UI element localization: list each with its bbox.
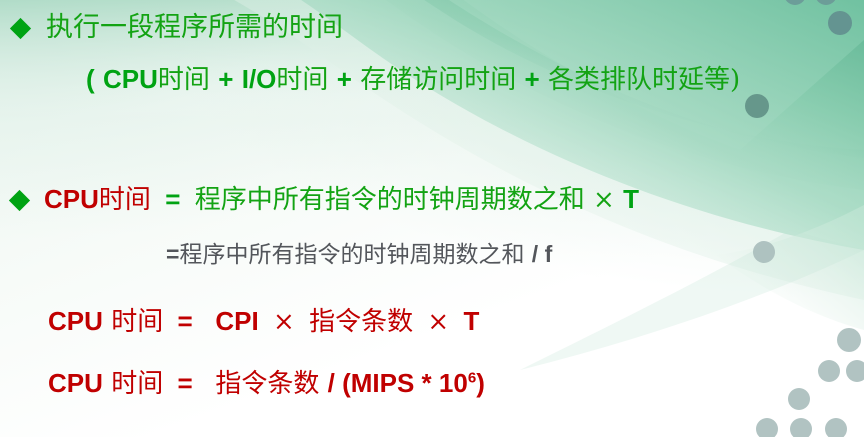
line5-time-label: 时间: [111, 307, 163, 337]
line3-equals: =: [165, 184, 180, 214]
line2-io-label: I/O: [242, 64, 277, 94]
line4-divide-f: / f: [532, 241, 552, 267]
diamond-bullet-icon: [10, 18, 31, 39]
bullet-line-2: (CPU时间+I/O时间+存储访问时间+各类排队时延等): [86, 66, 740, 93]
line6-time-label: 时间: [111, 369, 163, 399]
line6-cpu-label: CPU: [48, 368, 103, 398]
line6-instruction-count: 指令条数: [215, 369, 319, 399]
sub-line-4: =程序中所有指令的时钟周期数之和/ f: [166, 243, 552, 267]
line2-cpu-label: CPU: [103, 64, 158, 94]
line2-plus-2: +: [337, 64, 352, 94]
line5-T-symbol: T: [463, 306, 479, 336]
slide-canvas: 执行一段程序所需的时间 (CPU时间+I/O时间+存储访问时间+各类排队时延等)…: [0, 0, 864, 437]
line5-equals: =: [178, 306, 193, 336]
line6-exponent: 6: [468, 369, 476, 386]
formula-line-5: CPU时间=CPI×指令条数×T: [48, 308, 479, 335]
diamond-bullet-icon: [9, 190, 30, 211]
line5-cpi-label: CPI: [215, 306, 258, 336]
line6-close-paren: ): [476, 368, 485, 398]
line1-text: 执行一段程序所需的时间: [46, 12, 343, 43]
line5-multiply-2: ×: [427, 307, 449, 337]
line3-T-symbol: T: [623, 184, 639, 214]
slide-content: 执行一段程序所需的时间 (CPU时间+I/O时间+存储访问时间+各类排队时延等)…: [0, 0, 864, 437]
line5-multiply-1: ×: [273, 307, 295, 337]
line3-multiply-sign: ×: [593, 185, 615, 215]
bullet-line-1: 执行一段程序所需的时间: [46, 14, 343, 41]
line2-queue-delay: 各类排队时延等): [548, 65, 740, 95]
line5-instruction-count: 指令条数: [309, 307, 413, 337]
line6-mips-expression: / (MIPS * 10: [328, 368, 468, 398]
line4-cycles-sum: 程序中所有指令的时钟周期数之和: [179, 242, 524, 268]
bullet-line-3: CPU时间=程序中所有指令的时钟周期数之和×T: [44, 186, 639, 213]
line2-plus-3: +: [525, 64, 540, 94]
line6-equals: =: [178, 368, 193, 398]
line3-cycles-sum: 程序中所有指令的时钟周期数之和: [195, 185, 585, 215]
line2-time-2: 时间: [276, 65, 328, 95]
line2-open-paren: (: [86, 64, 95, 94]
line5-cpu-label: CPU: [48, 306, 103, 336]
line3-cpu-label: CPU: [44, 184, 99, 214]
line3-time-label: 时间: [99, 185, 151, 215]
formula-line-6: CPU时间=指令条数/ (MIPS * 106): [48, 370, 485, 397]
line2-time-1: 时间: [158, 65, 210, 95]
line4-equals: =: [166, 241, 179, 267]
line2-storage-access-time: 存储访问时间: [360, 65, 516, 95]
line2-plus-1: +: [218, 64, 233, 94]
